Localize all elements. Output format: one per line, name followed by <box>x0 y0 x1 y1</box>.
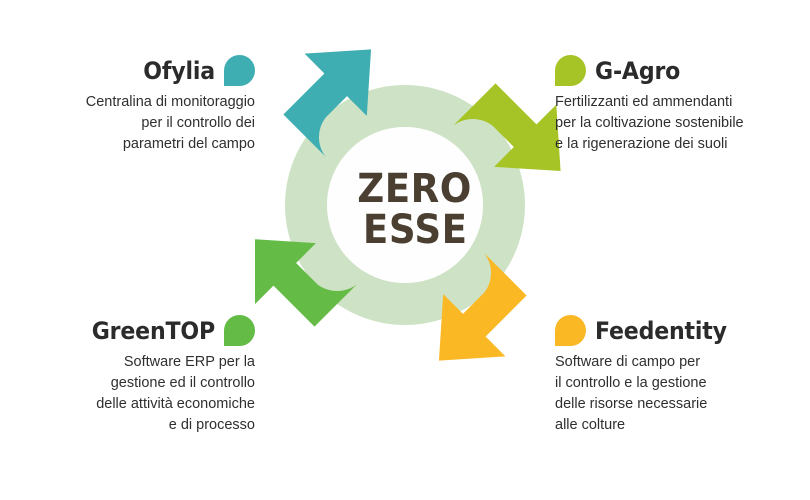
gagro-title: G-Agro <box>595 57 680 85</box>
greentop-title: GreenTOP <box>92 317 215 345</box>
ofylia-description: Centralina di monitoraggio per il contro… <box>5 92 255 155</box>
greentop-description: Software ERP per la gestione ed il contr… <box>5 352 255 436</box>
cycle-diagram: ZERO ESSE <box>255 45 575 375</box>
feedentity-heading: Feedentity <box>555 315 805 346</box>
feedentity-description: Software di campo per il controllo e la … <box>555 352 805 436</box>
cycle-inner-disc <box>327 127 483 283</box>
greentop-drop-icon <box>224 315 255 346</box>
gagro-heading: G-Agro <box>555 55 805 86</box>
ofylia-title: Ofylia <box>143 57 215 85</box>
label-block-ofylia: Ofylia Centralina di monitoraggio per il… <box>5 55 255 155</box>
label-block-gagro: G-Agro Fertilizzanti ed ammendanti per l… <box>555 55 805 155</box>
ofylia-heading: Ofylia <box>5 55 255 86</box>
greentop-heading: GreenTOP <box>5 315 255 346</box>
ofylia-drop-icon <box>224 55 255 86</box>
diagram-canvas: ZERO ESSE Ofylia Centralina di monitorag… <box>0 0 810 500</box>
gagro-description: Fertilizzanti ed ammendanti per la colti… <box>555 92 805 155</box>
feedentity-drop-icon <box>555 315 586 346</box>
gagro-drop-icon <box>555 55 586 86</box>
feedentity-title: Feedentity <box>595 317 727 345</box>
label-block-greentop: GreenTOP Software ERP per la gestione ed… <box>5 315 255 436</box>
label-block-feedentity: Feedentity Software di campo per il cont… <box>555 315 805 436</box>
